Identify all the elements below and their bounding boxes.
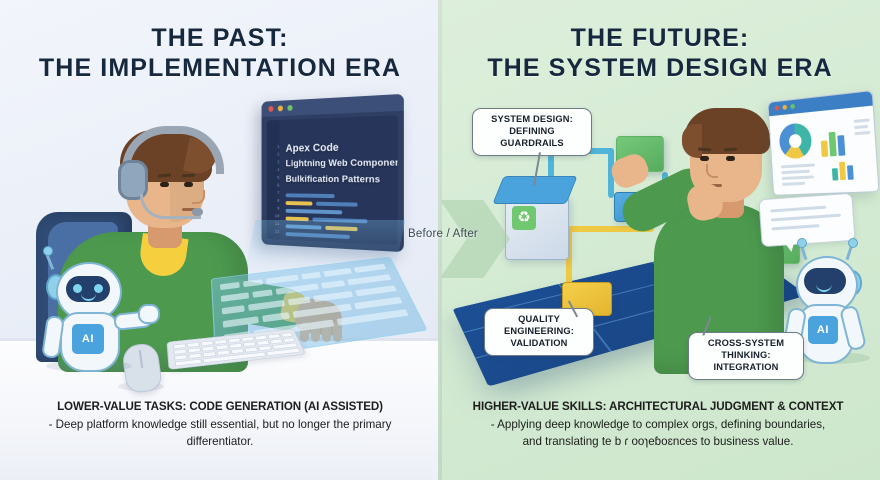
- line-number: 10: [269, 214, 279, 219]
- caption-future-heading: HIGHER-VALUE SKILLS: ARCHITECTURAL JUDGM…: [448, 400, 868, 413]
- robot-antenna-tip: [43, 246, 53, 256]
- code-token: [286, 193, 335, 198]
- title-future: THE FUTURE: THE SYSTEM DESIGN ERA: [460, 24, 860, 83]
- analytics-dashboard: [768, 90, 880, 196]
- robot-antenna-tip: [848, 238, 858, 248]
- title-past-line2: THE IMPLEMENTATION ERA: [20, 54, 420, 84]
- callout-quality-engineering[interactable]: QUALITY ENGINEERING: VALIDATION: [484, 308, 594, 356]
- architect-nose: [706, 164, 718, 178]
- line-number: 6: [269, 184, 279, 189]
- robot-antenna-tip: [797, 238, 807, 248]
- line-number: 1: [269, 145, 279, 150]
- window-maximize-dot: [287, 105, 292, 111]
- line-number: 7: [269, 191, 279, 196]
- code-token: [316, 202, 358, 207]
- line-number: 8: [269, 199, 279, 204]
- window-close-dot: [268, 106, 273, 112]
- title-future-line1: THE FUTURE:: [460, 24, 860, 54]
- code-text-bulkification: Bulkification Patterns: [286, 174, 381, 185]
- title-past-line1: THE PAST:: [20, 24, 420, 54]
- code-text-apex: Apex Code: [286, 142, 339, 155]
- window-minimize-dot: [782, 105, 787, 110]
- title-past: THE PAST: THE IMPLEMENTATION ERA: [20, 24, 420, 83]
- before-after-label: Before / After: [397, 228, 489, 240]
- robot-ai-badge: AI: [72, 324, 104, 354]
- developer-eye: [160, 182, 169, 187]
- line-number: 2: [269, 153, 279, 158]
- recycle-icon: ♻: [512, 206, 536, 230]
- callout-cross-system[interactable]: CROSS-SYSTEM THINKING: INTEGRATION: [688, 332, 804, 380]
- architect-eye: [726, 156, 735, 161]
- panel-divider: [438, 0, 442, 480]
- window-close-dot: [775, 106, 780, 111]
- caption-past-heading: LOWER-VALUE TASKS: CODE GENERATION (AI A…: [24, 400, 416, 413]
- bar-chart-bar: [839, 162, 846, 181]
- window-maximize-dot: [790, 104, 795, 109]
- caption-future-body-line2: and translating te b ɾ ooɿeɓoɛnces to bu…: [448, 434, 868, 451]
- developer-eye: [184, 182, 193, 187]
- window-minimize-dot: [278, 105, 283, 111]
- ai-robot-left: AI: [42, 246, 146, 368]
- robot-ai-badge: AI: [808, 316, 838, 344]
- bar-chart-bar: [821, 140, 829, 156]
- headset-mic-tip: [192, 208, 203, 216]
- title-future-line2: THE SYSTEM DESIGN ERA: [460, 54, 860, 84]
- line-number: 5: [269, 176, 279, 181]
- infographic-canvas: 1 2 3 4 5 6 7 8 9 10 11 12: [0, 0, 880, 480]
- bar-chart-bar: [829, 132, 837, 157]
- callout-system-design[interactable]: SYSTEM DESIGN: DEFINING GUARDRAILS: [472, 108, 592, 156]
- caption-past: LOWER-VALUE TASKS: CODE GENERATION (AI A…: [24, 400, 416, 451]
- architect-eye: [700, 156, 709, 161]
- code-token: [286, 201, 313, 206]
- code-token: [286, 209, 343, 215]
- editor-titlebar: [262, 94, 404, 117]
- caption-future-body-line1: - Applying deep knowledge to complex org…: [448, 417, 868, 434]
- line-number: 9: [269, 206, 279, 211]
- bar-chart-bar: [837, 135, 845, 156]
- bar-chart-bar: [832, 168, 838, 180]
- line-number: 3: [269, 160, 279, 165]
- robot-hand-right: [138, 304, 160, 324]
- code-text-lwc: Lightning Web Components: [286, 157, 398, 169]
- line-number: 4: [269, 168, 279, 173]
- caption-future: HIGHER-VALUE SKILLS: ARCHITECTURAL JUDGM…: [448, 400, 868, 451]
- bar-chart-bar: [847, 165, 854, 180]
- caption-past-body: - Deep platform knowledge still essentia…: [24, 417, 416, 451]
